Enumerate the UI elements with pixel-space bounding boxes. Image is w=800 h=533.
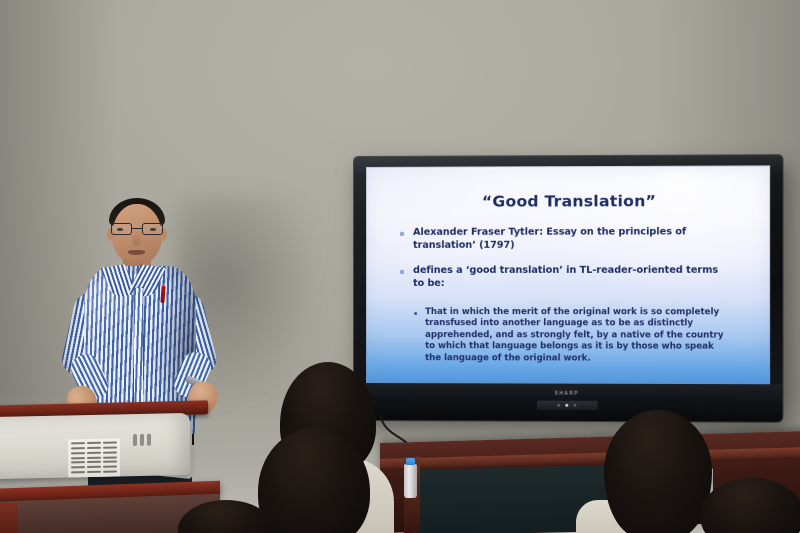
sensor-led-icon <box>573 404 576 407</box>
slide-bullet-text: defines a ‘good translation’ in TL-reade… <box>413 265 727 291</box>
console-key[interactable] <box>71 471 85 473</box>
slide-sub-bullet-text: That in which the merit of the original … <box>425 307 729 365</box>
audience-head <box>604 410 712 533</box>
audience-member <box>700 478 800 533</box>
console-key[interactable] <box>71 447 85 449</box>
lectern-post <box>0 503 18 533</box>
round-bullet-icon <box>414 312 417 315</box>
vent-slot <box>147 434 151 446</box>
console-key[interactable] <box>103 461 117 463</box>
console-key[interactable] <box>87 442 101 444</box>
console-key[interactable] <box>87 471 101 473</box>
slide-title: “Good Translation” <box>392 192 748 211</box>
lecture-room-photo: “Good Translation” Alexander Fraser Tytl… <box>0 0 800 533</box>
power-led-icon <box>557 404 560 407</box>
console-key[interactable] <box>103 471 117 473</box>
console-key[interactable] <box>71 442 85 444</box>
console-vent-slots <box>133 434 155 446</box>
brand-logo: SHARP <box>555 391 579 397</box>
audience-head <box>178 500 274 533</box>
console-key[interactable] <box>71 457 85 459</box>
console-key[interactable] <box>103 446 117 448</box>
console-key[interactable] <box>87 461 101 463</box>
ir-receiver-panel[interactable] <box>536 401 597 410</box>
console-key[interactable] <box>71 466 85 468</box>
slide-sub-bullet-item: That in which the merit of the original … <box>414 307 748 365</box>
slide-bullet-item: Alexander Fraser Tytler: Essay on the pr… <box>392 226 748 252</box>
console-key[interactable] <box>87 447 101 449</box>
slide-bullet-list: Alexander Fraser Tytler: Essay on the pr… <box>392 226 748 365</box>
audience-member <box>178 500 298 533</box>
console-key[interactable] <box>87 451 101 453</box>
square-bullet-icon <box>400 270 404 274</box>
audience-head <box>700 478 800 533</box>
vent-slot <box>140 434 144 446</box>
bottle-cap-icon <box>406 458 415 465</box>
console-key[interactable] <box>87 466 101 468</box>
flat-panel-display[interactable]: “Good Translation” Alexander Fraser Tytl… <box>354 155 782 422</box>
slide-bullet-item: defines a ‘good translation’ in TL-reade… <box>392 265 748 291</box>
presentation-slide: “Good Translation” Alexander Fraser Tytl… <box>366 165 770 384</box>
display-screen: “Good Translation” Alexander Fraser Tytl… <box>366 165 770 384</box>
presenter-mouth <box>128 250 145 255</box>
console-key[interactable] <box>103 456 117 458</box>
lens-right <box>142 223 163 235</box>
lectern-control-console[interactable] <box>0 413 190 479</box>
status-led-icon <box>565 404 568 407</box>
glasses-bridge <box>132 228 142 229</box>
presenter-nose <box>132 234 141 246</box>
console-key[interactable] <box>103 451 117 453</box>
bottle-body <box>404 464 417 498</box>
slide-bullet-text: Alexander Fraser Tytler: Essay on the pr… <box>413 226 727 252</box>
console-key[interactable] <box>103 441 117 443</box>
console-key[interactable] <box>103 466 117 468</box>
vent-slot <box>133 434 137 446</box>
square-bullet-icon <box>400 232 404 236</box>
lens-left <box>111 223 132 235</box>
console-button-grid[interactable] <box>68 438 120 477</box>
console-key[interactable] <box>71 462 85 464</box>
console-key[interactable] <box>87 456 101 458</box>
console-key[interactable] <box>71 452 85 454</box>
